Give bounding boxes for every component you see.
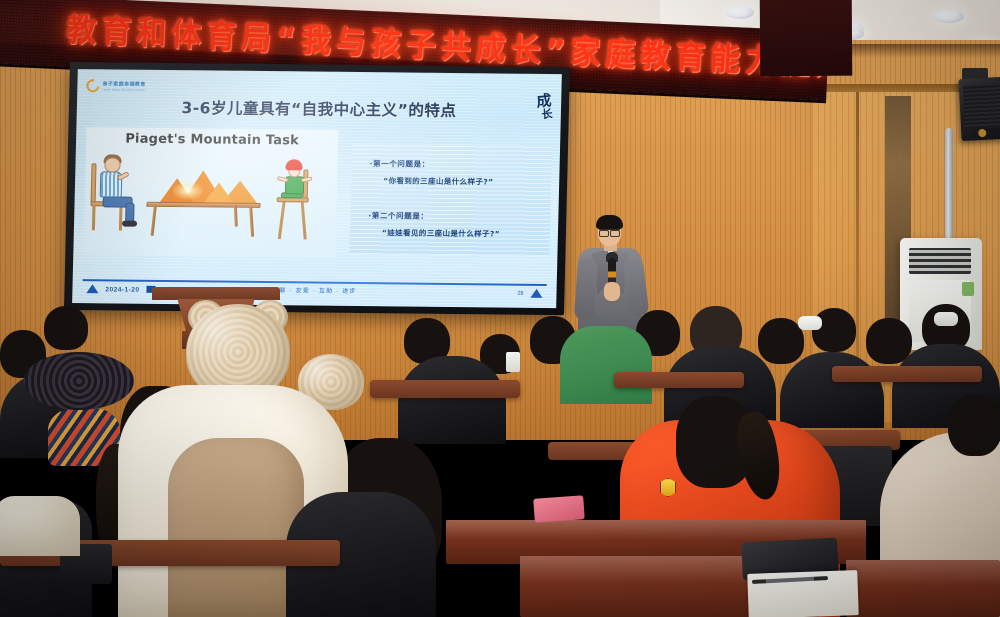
ceiling-downlight-3 bbox=[934, 10, 964, 23]
boy-chair-leg-right bbox=[119, 206, 123, 231]
bench-backrest bbox=[614, 372, 744, 388]
bench-backrest bbox=[370, 380, 520, 398]
logo-chinese-name: 亲子家庭幸福教育 bbox=[102, 80, 145, 87]
projection-screen[interactable]: 亲子家庭幸福教育 Family Happy Education Institut… bbox=[64, 62, 570, 315]
piaget-illustration-panel: Piaget's Mountain Task bbox=[83, 127, 338, 258]
lecture-hall-photo: 教育和体育局“我与孩子共成长”家庭教育能力提升培训班 亲子家庭幸福教育 Fami… bbox=[0, 0, 1000, 617]
table-leg-front-right bbox=[249, 207, 254, 237]
audience-head bbox=[948, 394, 1000, 456]
highchair-leg-right bbox=[301, 201, 307, 239]
question-2-text: “娃娃看见的三座山是什么样子?” bbox=[382, 227, 500, 239]
slide-logo: 亲子家庭幸福教育 Family Happy Education Institut… bbox=[86, 77, 160, 94]
paper-cup bbox=[506, 352, 520, 372]
boy-head bbox=[104, 157, 120, 172]
ac-energy-label bbox=[962, 282, 974, 296]
presenter-hair bbox=[596, 215, 623, 229]
desk-front-right bbox=[846, 560, 1000, 617]
face-mask bbox=[934, 312, 958, 326]
boy-shoe bbox=[122, 221, 137, 227]
screen-frame: 亲子家庭幸福教育 Family Happy Education Institut… bbox=[64, 62, 570, 315]
podium-top bbox=[152, 287, 280, 300]
logo-swirl-icon bbox=[84, 76, 102, 94]
highchair-leg-left bbox=[278, 201, 286, 239]
audience-head bbox=[812, 308, 856, 352]
slide-page-number: 28 bbox=[517, 291, 523, 297]
calligraphy-char-2: 长 bbox=[541, 109, 553, 120]
logo-english-name: Family Happy Education Institute bbox=[102, 88, 145, 91]
led-banner-right-frame bbox=[760, 0, 853, 76]
calligraphy-growth: 成 长 bbox=[536, 94, 553, 120]
piaget-mountain-illustration bbox=[83, 145, 338, 256]
speaker-grill bbox=[963, 83, 1000, 129]
audience-head bbox=[44, 306, 88, 350]
audience-fur-collar bbox=[24, 352, 134, 410]
doll-red-hair bbox=[285, 159, 302, 170]
table-leg-front-left bbox=[150, 206, 156, 236]
face-mask bbox=[798, 316, 822, 330]
mountain-highlight bbox=[173, 182, 203, 199]
audience-green-jacket bbox=[560, 326, 652, 404]
pink-pouch[interactable] bbox=[533, 495, 585, 522]
table-top bbox=[146, 202, 261, 208]
question-2-heading: ·第二个问题是： bbox=[368, 210, 428, 222]
slide-title: 3-6岁儿童具有“自我中心主义”的特点 bbox=[77, 95, 562, 122]
mountain-right-2 bbox=[203, 182, 236, 204]
boy-chair-leg-left bbox=[92, 205, 96, 230]
question-1-heading: ·第一个问题是： bbox=[369, 158, 429, 170]
desk-sheen bbox=[846, 560, 1000, 617]
audience-tan-vest bbox=[168, 438, 304, 617]
speaker-logo bbox=[978, 129, 986, 137]
question-1-text: “你看到的三座山是什么样子?” bbox=[383, 175, 493, 187]
presenter-glasses bbox=[599, 229, 620, 234]
presentation-slide: 亲子家庭幸福教育 Family Happy Education Institut… bbox=[72, 69, 562, 308]
bench-backrest bbox=[832, 366, 982, 382]
door-handle[interactable] bbox=[945, 128, 953, 244]
questions-panel: ·第一个问题是： “你看到的三座山是什么样子?” ·第二个问题是： “娃娃看见的… bbox=[349, 144, 552, 256]
ceiling-downlight-1 bbox=[726, 6, 754, 19]
table-leg-back-right bbox=[234, 205, 238, 227]
presenter-hand bbox=[604, 282, 620, 301]
audience-black-coat bbox=[398, 356, 506, 444]
pa-speaker bbox=[958, 77, 1000, 141]
logo-text-block: 亲子家庭幸福教育 Family Happy Education Institut… bbox=[102, 80, 145, 91]
ac-vent-louvers bbox=[909, 248, 971, 274]
boy-chair-back bbox=[91, 163, 97, 203]
draped-coat bbox=[0, 496, 80, 556]
